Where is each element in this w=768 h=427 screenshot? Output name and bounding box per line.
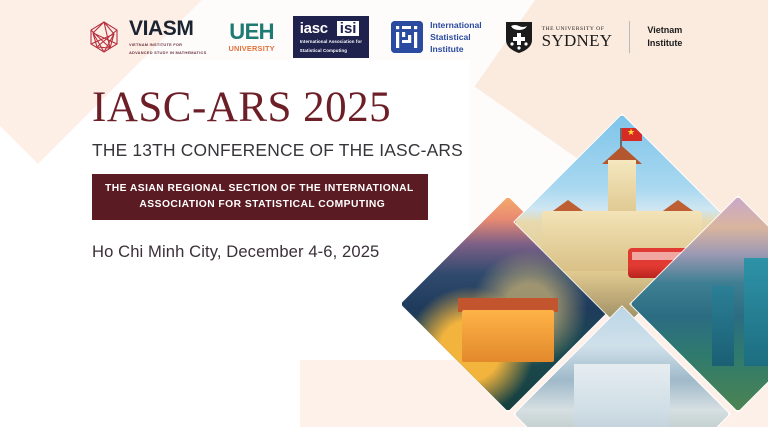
- viasm-logo[interactable]: VIASM VIETNAM INSTITUTE FOR ADVANCED STU…: [86, 18, 206, 56]
- viasm-tagline-line1: VIETNAM INSTITUTE FOR: [129, 42, 206, 48]
- sydney-vietnam-line1: Vietnam: [647, 24, 682, 37]
- sydney-wordmark: SYDNEY: [542, 32, 613, 49]
- isi-monogram-icon: [391, 21, 423, 53]
- isi-line-statistical: Statistical: [430, 31, 482, 43]
- shield-crest-icon: [504, 20, 534, 54]
- viasm-wordmark: VIASM: [129, 18, 206, 39]
- viasm-tagline-line2: ADVANCED STUDY IN MATHEMATICS: [129, 50, 206, 56]
- date-location-text: Ho Chi Minh City, December 4-6, 2025: [92, 242, 463, 262]
- iasc-logo[interactable]: iasc isi International Association for S…: [293, 16, 369, 59]
- city-hall-tower: [608, 160, 636, 218]
- page-title: IASC-ARS 2025: [92, 86, 463, 129]
- sydney-vietnam-line2: Institute: [647, 37, 682, 50]
- skyline-tower-1: [744, 258, 768, 366]
- plaque-line-1: THE ASIAN REGIONAL SECTION OF THE INTERN…: [105, 181, 414, 197]
- skyline-tower-3: [712, 286, 734, 366]
- isi-line-institute: Institute: [430, 43, 482, 55]
- university-of-sydney-logo[interactable]: THE UNIVERSITY OF SYDNEY Vietnam Institu…: [504, 20, 683, 54]
- partner-logo-bar: VIASM VIETNAM INSTITUTE FOR ADVANCED STU…: [0, 0, 768, 74]
- isi-logo[interactable]: International Statistical Institute: [391, 19, 482, 56]
- ueh-university-label: UNIVERSITY: [228, 44, 274, 53]
- ueh-wordmark: UEH: [229, 21, 274, 43]
- iasc-wordmark: iasc: [300, 21, 328, 36]
- night-illuminated-building: [462, 310, 554, 362]
- logo-divider: [629, 21, 630, 53]
- ueh-campus-building: [574, 364, 670, 427]
- iasc-tagline-line1: International Association for: [300, 39, 362, 45]
- conference-details: IASC-ARS 2025 THE 13TH CONFERENCE OF THE…: [92, 86, 463, 262]
- isi-line-international: International: [430, 19, 482, 31]
- polyhedron-icon: [86, 19, 122, 55]
- iasc-tagline-line2: Statistical Computing: [300, 48, 347, 54]
- conference-subtitle: THE 13TH CONFERENCE OF THE IASC-ARS: [92, 140, 463, 161]
- ueh-logo[interactable]: UEH UNIVERSITY: [228, 21, 274, 53]
- organization-plaque: THE ASIAN REGIONAL SECTION OF THE INTERN…: [92, 174, 428, 220]
- vietnam-flag-icon: [622, 128, 642, 141]
- iasc-isi-wordmark: isi: [337, 21, 360, 36]
- conference-banner: UEH VIASM VIETNAM INSTITUTE FOR ADVANCED…: [0, 0, 768, 427]
- plaque-line-2: ASSOCIATION FOR STATISTICAL COMPUTING: [105, 197, 414, 213]
